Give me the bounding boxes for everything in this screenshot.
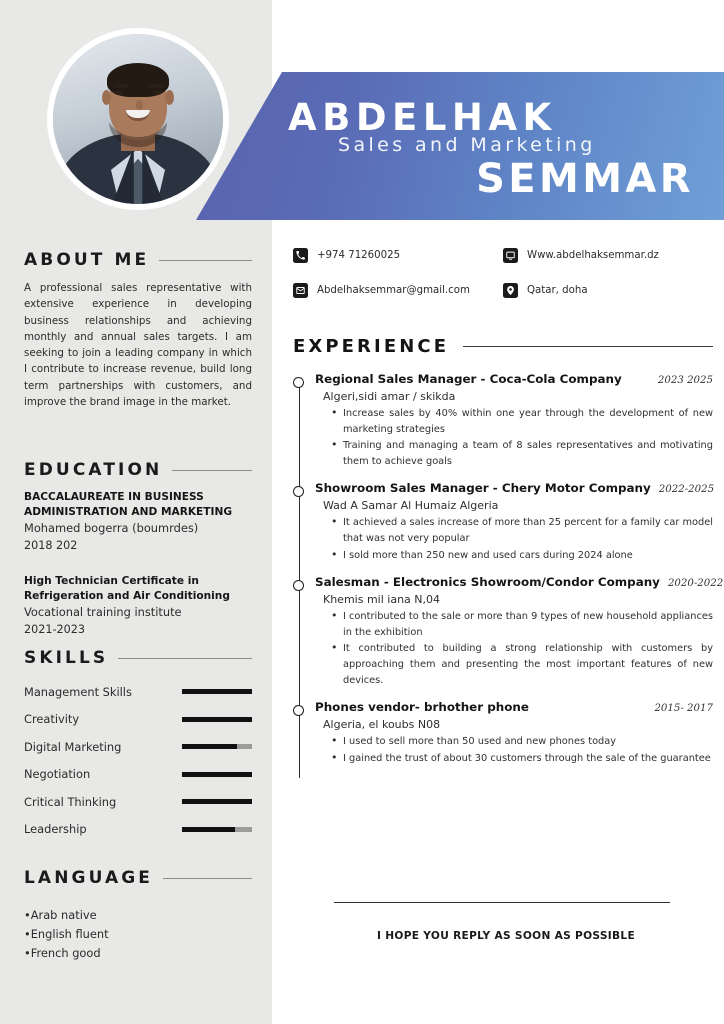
experience-timeline: Regional Sales Manager - Coca-Cola Compa…: [293, 372, 713, 778]
avatar-brow-left: [113, 84, 128, 88]
education-title: EDUCATION: [24, 460, 162, 480]
experience-bullet: I contributed to the sale or more than 9…: [329, 609, 713, 640]
skill-label: Management Skills: [24, 685, 132, 699]
phone-value: +974 71260025: [317, 250, 400, 261]
experience-item-header: Salesman - Electronics Showroom/Condor C…: [315, 575, 713, 589]
about-text: A professional sales representative with…: [24, 280, 252, 410]
avatar-brow-right: [149, 84, 164, 88]
experience-job-title: Phones vendor- brhother phone: [315, 700, 529, 714]
experience-heading: EXPERIENCE: [293, 336, 713, 357]
skills-heading: SKILLS: [24, 648, 252, 668]
skill-item: Negotiation: [24, 761, 252, 789]
skills-divider: [118, 658, 252, 659]
skill-item: Creativity: [24, 706, 252, 734]
education-school: Mohamed bogerra (boumrdes): [24, 520, 252, 537]
email-icon: [293, 283, 308, 298]
skill-bar-fill: [182, 799, 252, 804]
skill-bar-fill: [182, 717, 252, 722]
skill-bar: [182, 799, 252, 804]
contact-email[interactable]: Abdelhaksemmar@gmail.com: [293, 283, 503, 298]
education-item: BACCALAUREATE IN BUSINESS ADMINISTRATION…: [24, 490, 252, 554]
education-school: Vocational training institute: [24, 604, 252, 621]
language-item: •English fluent: [24, 925, 252, 944]
skill-bar: [182, 744, 252, 749]
skill-label: Digital Marketing: [24, 740, 121, 754]
about-divider: [159, 260, 252, 261]
avatar-eye-right: [153, 90, 162, 95]
experience-item-header: Regional Sales Manager - Coca-Cola Compa…: [315, 372, 713, 386]
timeline-dot-icon: [293, 580, 304, 591]
experience-job-location: Wad A Samar Al Humaiz Algeria: [323, 499, 713, 512]
skill-bar: [182, 717, 252, 722]
experience-title: EXPERIENCE: [293, 336, 449, 357]
education-divider: [172, 470, 252, 471]
experience-bullet: I sold more than 250 new and used cars d…: [329, 548, 713, 564]
experience-job-points: I contributed to the sale or more than 9…: [329, 609, 713, 688]
experience-job-title: Salesman - Electronics Showroom/Condor C…: [315, 575, 660, 589]
language-divider: [163, 878, 252, 879]
experience-job-location: Algeria, el koubs N08: [323, 718, 713, 731]
language-item: •French good: [24, 944, 252, 963]
experience-job-date: 2022-2025: [659, 484, 714, 495]
footer-note: I HOPE YOU REPLY AS SOON AS POSSIBLE: [288, 930, 724, 942]
timeline-dot-icon: [293, 486, 304, 497]
experience-bullet: Training and managing a team of 8 sales …: [329, 438, 713, 469]
about-section: ABOUT ME A professional sales representa…: [24, 250, 252, 410]
experience-bullet: I gained the trust of about 30 customers…: [329, 751, 713, 767]
avatar: [47, 28, 229, 210]
education-section: EDUCATION BACCALAUREATE IN BUSINESS ADMI…: [24, 460, 252, 638]
experience-bullet: I used to sell more than 50 used and new…: [329, 734, 713, 750]
education-degree: BACCALAUREATE IN BUSINESS ADMINISTRATION…: [24, 490, 252, 519]
experience-job-title: Showroom Sales Manager - Chery Motor Com…: [315, 481, 651, 495]
education-item: High Technician Certificate in Refrigera…: [24, 574, 252, 638]
skill-bar-fill: [182, 744, 237, 749]
education-spacer: [24, 554, 252, 568]
website-icon: [503, 248, 518, 263]
experience-item-header: Phones vendor- brhother phone 2015- 2017: [315, 700, 713, 714]
about-title: ABOUT ME: [24, 250, 149, 270]
experience-item: Phones vendor- brhother phone 2015- 2017…: [293, 700, 713, 766]
resume-page: ABOUT ME A professional sales representa…: [0, 0, 724, 1024]
experience-item-header: Showroom Sales Manager - Chery Motor Com…: [315, 481, 713, 495]
experience-job-date: 2015- 2017: [654, 703, 713, 714]
experience-item: Showroom Sales Manager - Chery Motor Com…: [293, 481, 713, 563]
skill-bar: [182, 772, 252, 777]
skills-list: Management Skills Creativity Digital Mar…: [24, 678, 252, 843]
skill-bar-fill: [182, 689, 252, 694]
skill-bar-fill: [182, 827, 235, 832]
experience-job-date: 2023 2025: [658, 375, 713, 386]
about-heading: ABOUT ME: [24, 250, 252, 270]
experience-job-title: Regional Sales Manager - Coca-Cola Compa…: [315, 372, 622, 386]
skill-label: Negotiation: [24, 767, 90, 781]
skill-label: Critical Thinking: [24, 795, 116, 809]
education-years: 2021-2023: [24, 621, 252, 638]
experience-item: Salesman - Electronics Showroom/Condor C…: [293, 575, 713, 688]
language-heading: LANGUAGE: [24, 868, 252, 888]
experience-bullet: It contributed to building a strong rela…: [329, 641, 713, 688]
language-title: LANGUAGE: [24, 868, 153, 888]
website-value: Www.abdelhaksemmar.dz: [527, 250, 659, 261]
skills-section: SKILLS Management Skills Creativity Digi…: [24, 648, 252, 843]
skill-bar-fill: [182, 772, 252, 777]
experience-job-points: It achieved a sales increase of more tha…: [329, 515, 713, 563]
skill-label: Creativity: [24, 712, 79, 726]
footer-divider: [334, 902, 670, 903]
contact-list: +974 71260025 Www.abdelhaksemmar.dz Abde…: [293, 248, 713, 298]
skill-item: Leadership: [24, 816, 252, 844]
experience-job-location: Khemis mil iana N,04: [323, 593, 713, 606]
experience-job-points: I used to sell more than 50 used and new…: [329, 734, 713, 766]
contact-website[interactable]: Www.abdelhaksemmar.dz: [503, 248, 713, 263]
skill-item: Critical Thinking: [24, 788, 252, 816]
main-content: +974 71260025 Www.abdelhaksemmar.dz Abde…: [288, 0, 724, 1024]
location-icon: [503, 283, 518, 298]
language-section: LANGUAGE •Arab native •English fluent •F…: [24, 868, 252, 963]
avatar-photo: [53, 34, 223, 204]
experience-job-points: Increase sales by 40% within one year th…: [329, 406, 713, 469]
language-list: •Arab native •English fluent •French goo…: [24, 906, 252, 963]
timeline-dot-icon: [293, 377, 304, 388]
experience-item: Regional Sales Manager - Coca-Cola Compa…: [293, 372, 713, 469]
contact-phone[interactable]: +974 71260025: [293, 248, 503, 263]
skill-label: Leadership: [24, 822, 87, 836]
experience-job-location: Algeri,sidi amar / skikda: [323, 390, 713, 403]
education-years: 2018 202: [24, 537, 252, 554]
skills-title: SKILLS: [24, 648, 108, 668]
experience-bullet: Increase sales by 40% within one year th…: [329, 406, 713, 437]
skill-bar: [182, 827, 252, 832]
timeline-dot-icon: [293, 705, 304, 716]
location-value: Qatar, doha: [527, 285, 588, 296]
skill-item: Management Skills: [24, 678, 252, 706]
experience-job-date: 2020-2022: [668, 578, 723, 589]
contact-location[interactable]: Qatar, doha: [503, 283, 713, 298]
education-degree: High Technician Certificate in Refrigera…: [24, 574, 252, 603]
language-item: •Arab native: [24, 906, 252, 925]
skill-bar: [182, 689, 252, 694]
experience-bullet: It achieved a sales increase of more tha…: [329, 515, 713, 546]
email-value: Abdelhaksemmar@gmail.com: [317, 285, 470, 296]
education-heading: EDUCATION: [24, 460, 252, 480]
avatar-ear-right: [165, 90, 174, 105]
experience-divider: [463, 346, 713, 347]
skill-item: Digital Marketing: [24, 733, 252, 761]
phone-icon: [293, 248, 308, 263]
